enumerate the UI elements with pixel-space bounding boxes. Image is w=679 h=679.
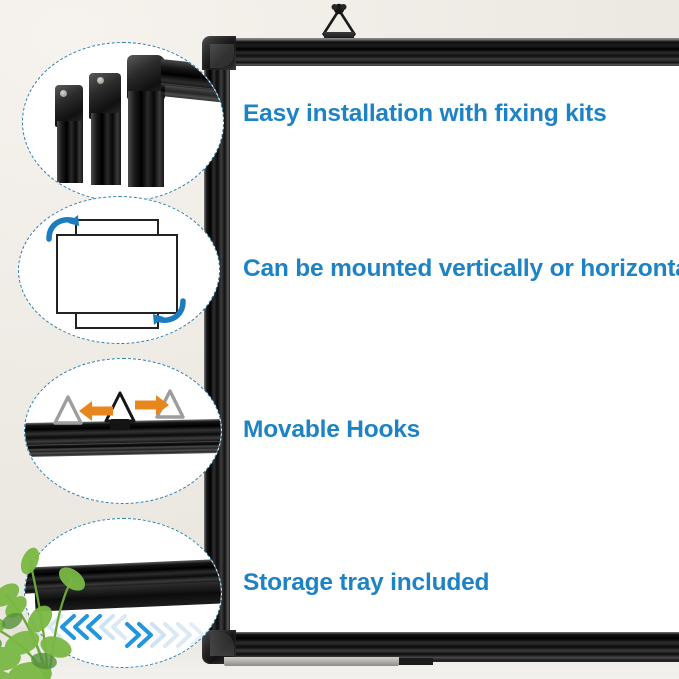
callout-fixing-kits-circle (22, 42, 224, 202)
callout-orientation-circle (18, 196, 220, 344)
marker-storage-tray (224, 657, 399, 666)
feature-label-orientation: Can be mounted vertically or horizontall… (243, 257, 679, 282)
bracket-screw-small (60, 90, 67, 97)
move-right-arrow-icon (135, 393, 169, 417)
rotate-arrow-top-icon (45, 213, 81, 243)
callout-fixing-kits (22, 42, 224, 202)
tray-chevrons-right-icon (123, 619, 209, 651)
callout-movable-hooks-circle (24, 358, 222, 504)
bracket-post-medium (91, 113, 121, 185)
whiteboard-writing-surface (224, 48, 679, 646)
feature-label-movable-hooks: Movable Hooks (243, 418, 420, 443)
feature-label-fixing-kits: Easy installation with fixing kits (243, 102, 607, 127)
callout-storage-tray (24, 518, 222, 668)
whiteboard-top-rail (208, 38, 679, 66)
tray-chevrons-left-icon (43, 611, 129, 643)
storage-tray-end-cap (399, 658, 433, 665)
callout-fixing-kits-art (23, 43, 223, 201)
infographic-canvas: Easy installation with fixing kits Can b… (0, 0, 679, 679)
bracket-screw-medium (97, 77, 104, 84)
callout-orientation-art (19, 197, 219, 343)
callout-orientation (18, 196, 220, 344)
callout-movable-hooks (24, 358, 222, 504)
bracket-post-large (128, 91, 164, 187)
callout-movable-hooks-art (25, 359, 221, 503)
callout-storage-tray-art (25, 519, 221, 667)
feature-label-storage-tray: Storage tray included (243, 571, 489, 596)
move-left-arrow-icon (79, 399, 113, 423)
callout-storage-tray-circle (24, 518, 222, 668)
rotate-arrow-bottom-icon (151, 297, 187, 327)
bracket-post-small (57, 121, 83, 183)
